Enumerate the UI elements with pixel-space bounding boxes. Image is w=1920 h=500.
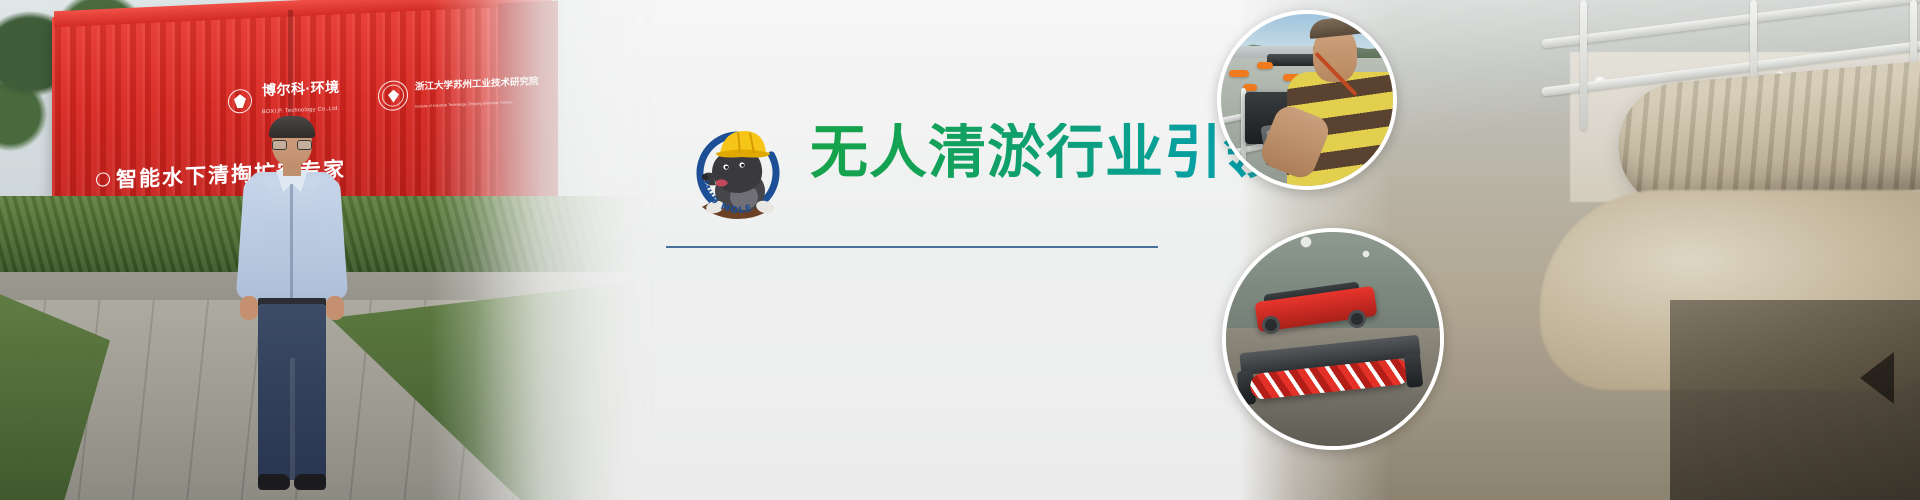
figure-hand-right	[326, 296, 344, 320]
figure-shirt-placket	[290, 184, 293, 300]
figure-leg-seam	[290, 358, 295, 480]
operator-circle-photo	[1217, 10, 1397, 190]
orange-float	[1229, 70, 1249, 77]
robot-water-foam	[1226, 232, 1444, 284]
center-content: MUD MOLE 无人清淤行业引领者	[660, 0, 1220, 500]
dredging-robot-circle-photo	[1222, 228, 1444, 450]
brand-text-block: 博尔科·环境 BOXI.P. Technology Co.,Ltd.	[262, 79, 340, 119]
mud-mole-logo-svg: MUD MOLE	[682, 115, 794, 227]
brand-name-en: BOXI.P. Technology Co.,Ltd.	[262, 106, 339, 116]
figure-hair	[269, 116, 315, 138]
brand-mark-icon	[228, 89, 252, 114]
robot-wheel	[1262, 316, 1280, 334]
hero-banner: 博尔科·环境 BOXI.P. Technology Co.,Ltd. 浙江大学苏…	[0, 0, 1920, 500]
orange-float	[1257, 62, 1273, 69]
figure-glasses-icon	[272, 140, 312, 150]
left-photo-container-unit: 博尔科·环境 BOXI.P. Technology Co.,Ltd. 浙江大学苏…	[0, 0, 660, 500]
figure-hand-left	[240, 296, 258, 320]
auger-end-cap	[1404, 352, 1423, 387]
arrow-shape	[1860, 352, 1894, 404]
right-photo-collage	[1200, 0, 1920, 500]
engineer-figure	[236, 120, 348, 500]
university-seal-icon	[378, 80, 408, 111]
figure-shoe-left	[258, 474, 290, 490]
mud-mole-logo: MUD MOLE	[682, 115, 794, 227]
slogan-bullet-icon	[96, 172, 110, 187]
figure-shoe-right	[294, 474, 326, 490]
headline-divider-rule	[666, 246, 1158, 248]
brand-name-cn: 博尔科·环境	[262, 79, 340, 99]
dredging-robot-body	[1256, 288, 1386, 340]
robot-wheel	[1348, 310, 1366, 328]
left-photo-fade-mask	[430, 0, 660, 500]
